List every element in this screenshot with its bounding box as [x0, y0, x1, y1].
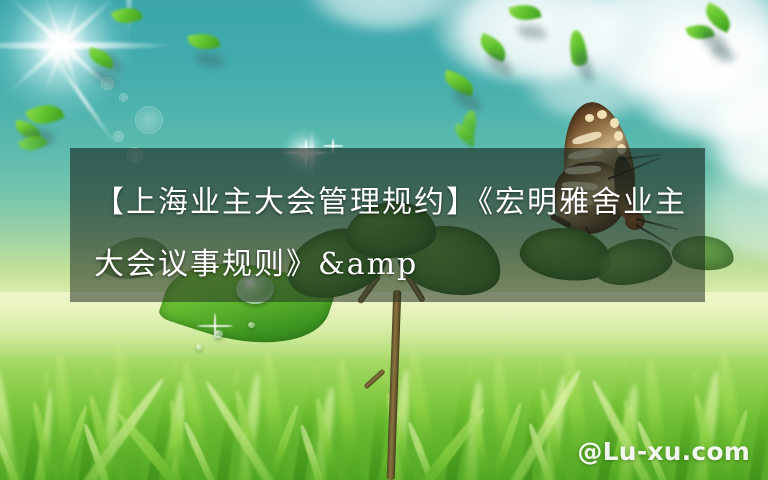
- dew-drop: [196, 344, 202, 350]
- dew-drop: [248, 322, 255, 328]
- dew-drop: [214, 330, 223, 338]
- banner-image: 【上海业主大会管理规约】《宏明雅舍业主大会议事规则》&amp @Lu-xu.co…: [0, 0, 768, 480]
- site-watermark: @Lu-xu.com: [577, 437, 750, 466]
- headline-text: 【上海业主大会管理规约】《宏明雅舍业主大会议事规则》&amp: [70, 148, 705, 302]
